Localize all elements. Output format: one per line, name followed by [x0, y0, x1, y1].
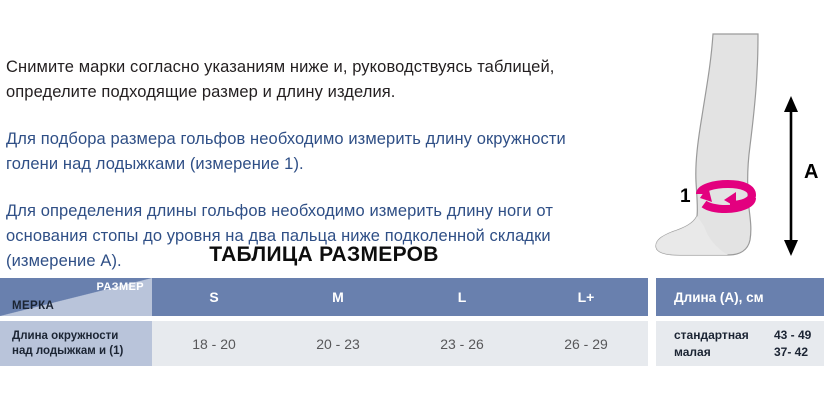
paragraph-line: Снимите марки согласно указаниям ниже и,…	[6, 55, 606, 80]
circumference-marker-label: 1	[680, 186, 691, 207]
column-header-l-plus: L+	[524, 278, 648, 316]
table-header-row: РАЗМЕР МЕРКА S M L L+ Длина (А), см	[0, 278, 824, 316]
cell-value-l: 23 - 26	[400, 321, 524, 366]
paragraph-line: Для подбора размера гольфов необходимо и…	[6, 127, 606, 152]
row-length-values: стандартная 43 - 49 малая 37- 42	[656, 321, 824, 366]
cell-value-m: 20 - 23	[276, 321, 400, 366]
table-row-size-group: Длина окружности над лодыжкам и (1) 18 -…	[0, 321, 648, 366]
leg-silhouette	[656, 34, 758, 255]
corner-measure-label: МЕРКА	[12, 300, 54, 312]
table-row: Длина окружности над лодыжкам и (1) 18 -…	[0, 321, 824, 366]
instruction-paragraph-1: Снимите марки согласно указаниям ниже и,…	[6, 55, 606, 105]
length-entry-label: малая	[674, 344, 774, 361]
row-measure-line: над лодыжкам и (1)	[12, 344, 152, 359]
length-entry-value: 37- 42	[774, 344, 808, 361]
paragraph-spacer	[6, 177, 606, 199]
length-entry-value: 43 - 49	[774, 327, 811, 344]
row-values-strip: 18 - 20 20 - 23 23 - 26 26 - 29	[152, 321, 648, 366]
table-corner-cell: РАЗМЕР МЕРКА	[0, 278, 152, 316]
table-column-divider	[648, 321, 656, 366]
instruction-paragraph-2: Для подбора размера гольфов необходимо и…	[6, 127, 606, 177]
table-header-size-group: РАЗМЕР МЕРКА S M L L+	[0, 278, 648, 316]
table-column-divider	[648, 278, 656, 316]
row-measure-line: Длина окружности	[12, 329, 152, 344]
paragraph-line: определите подходящие размер и длину изд…	[6, 80, 606, 105]
paragraph-line: голени над лодыжками (измерение 1).	[6, 152, 606, 177]
column-header-m: M	[276, 278, 400, 316]
column-header-s: S	[152, 278, 276, 316]
size-table: РАЗМЕР МЕРКА S M L L+ Длина (А), см Длин…	[0, 278, 824, 366]
length-marker-label: A	[804, 161, 818, 183]
column-header-length: Длина (А), см	[656, 278, 824, 316]
length-entry-label: стандартная	[674, 327, 774, 344]
leg-measurement-illustration: 1 A	[640, 12, 824, 270]
length-entry-standard: стандартная 43 - 49	[674, 327, 824, 344]
page-title: ТАБЛИЦА РАЗМЕРОВ	[0, 243, 648, 267]
corner-size-label: РАЗМЕР	[97, 281, 144, 293]
paragraph-line: Для определения длины гольфов необходимо…	[6, 199, 606, 224]
length-entry-small: малая 37- 42	[674, 344, 824, 361]
cell-value-s: 18 - 20	[152, 321, 276, 366]
cell-value-l-plus: 26 - 29	[524, 321, 648, 366]
length-measurement-arrow-icon	[784, 96, 798, 256]
column-header-l: L	[400, 278, 524, 316]
row-measure-label: Длина окружности над лодыжкам и (1)	[0, 321, 152, 366]
instructions-text-block: Снимите марки согласно указаниям ниже и,…	[6, 55, 606, 274]
paragraph-spacer	[6, 105, 606, 127]
